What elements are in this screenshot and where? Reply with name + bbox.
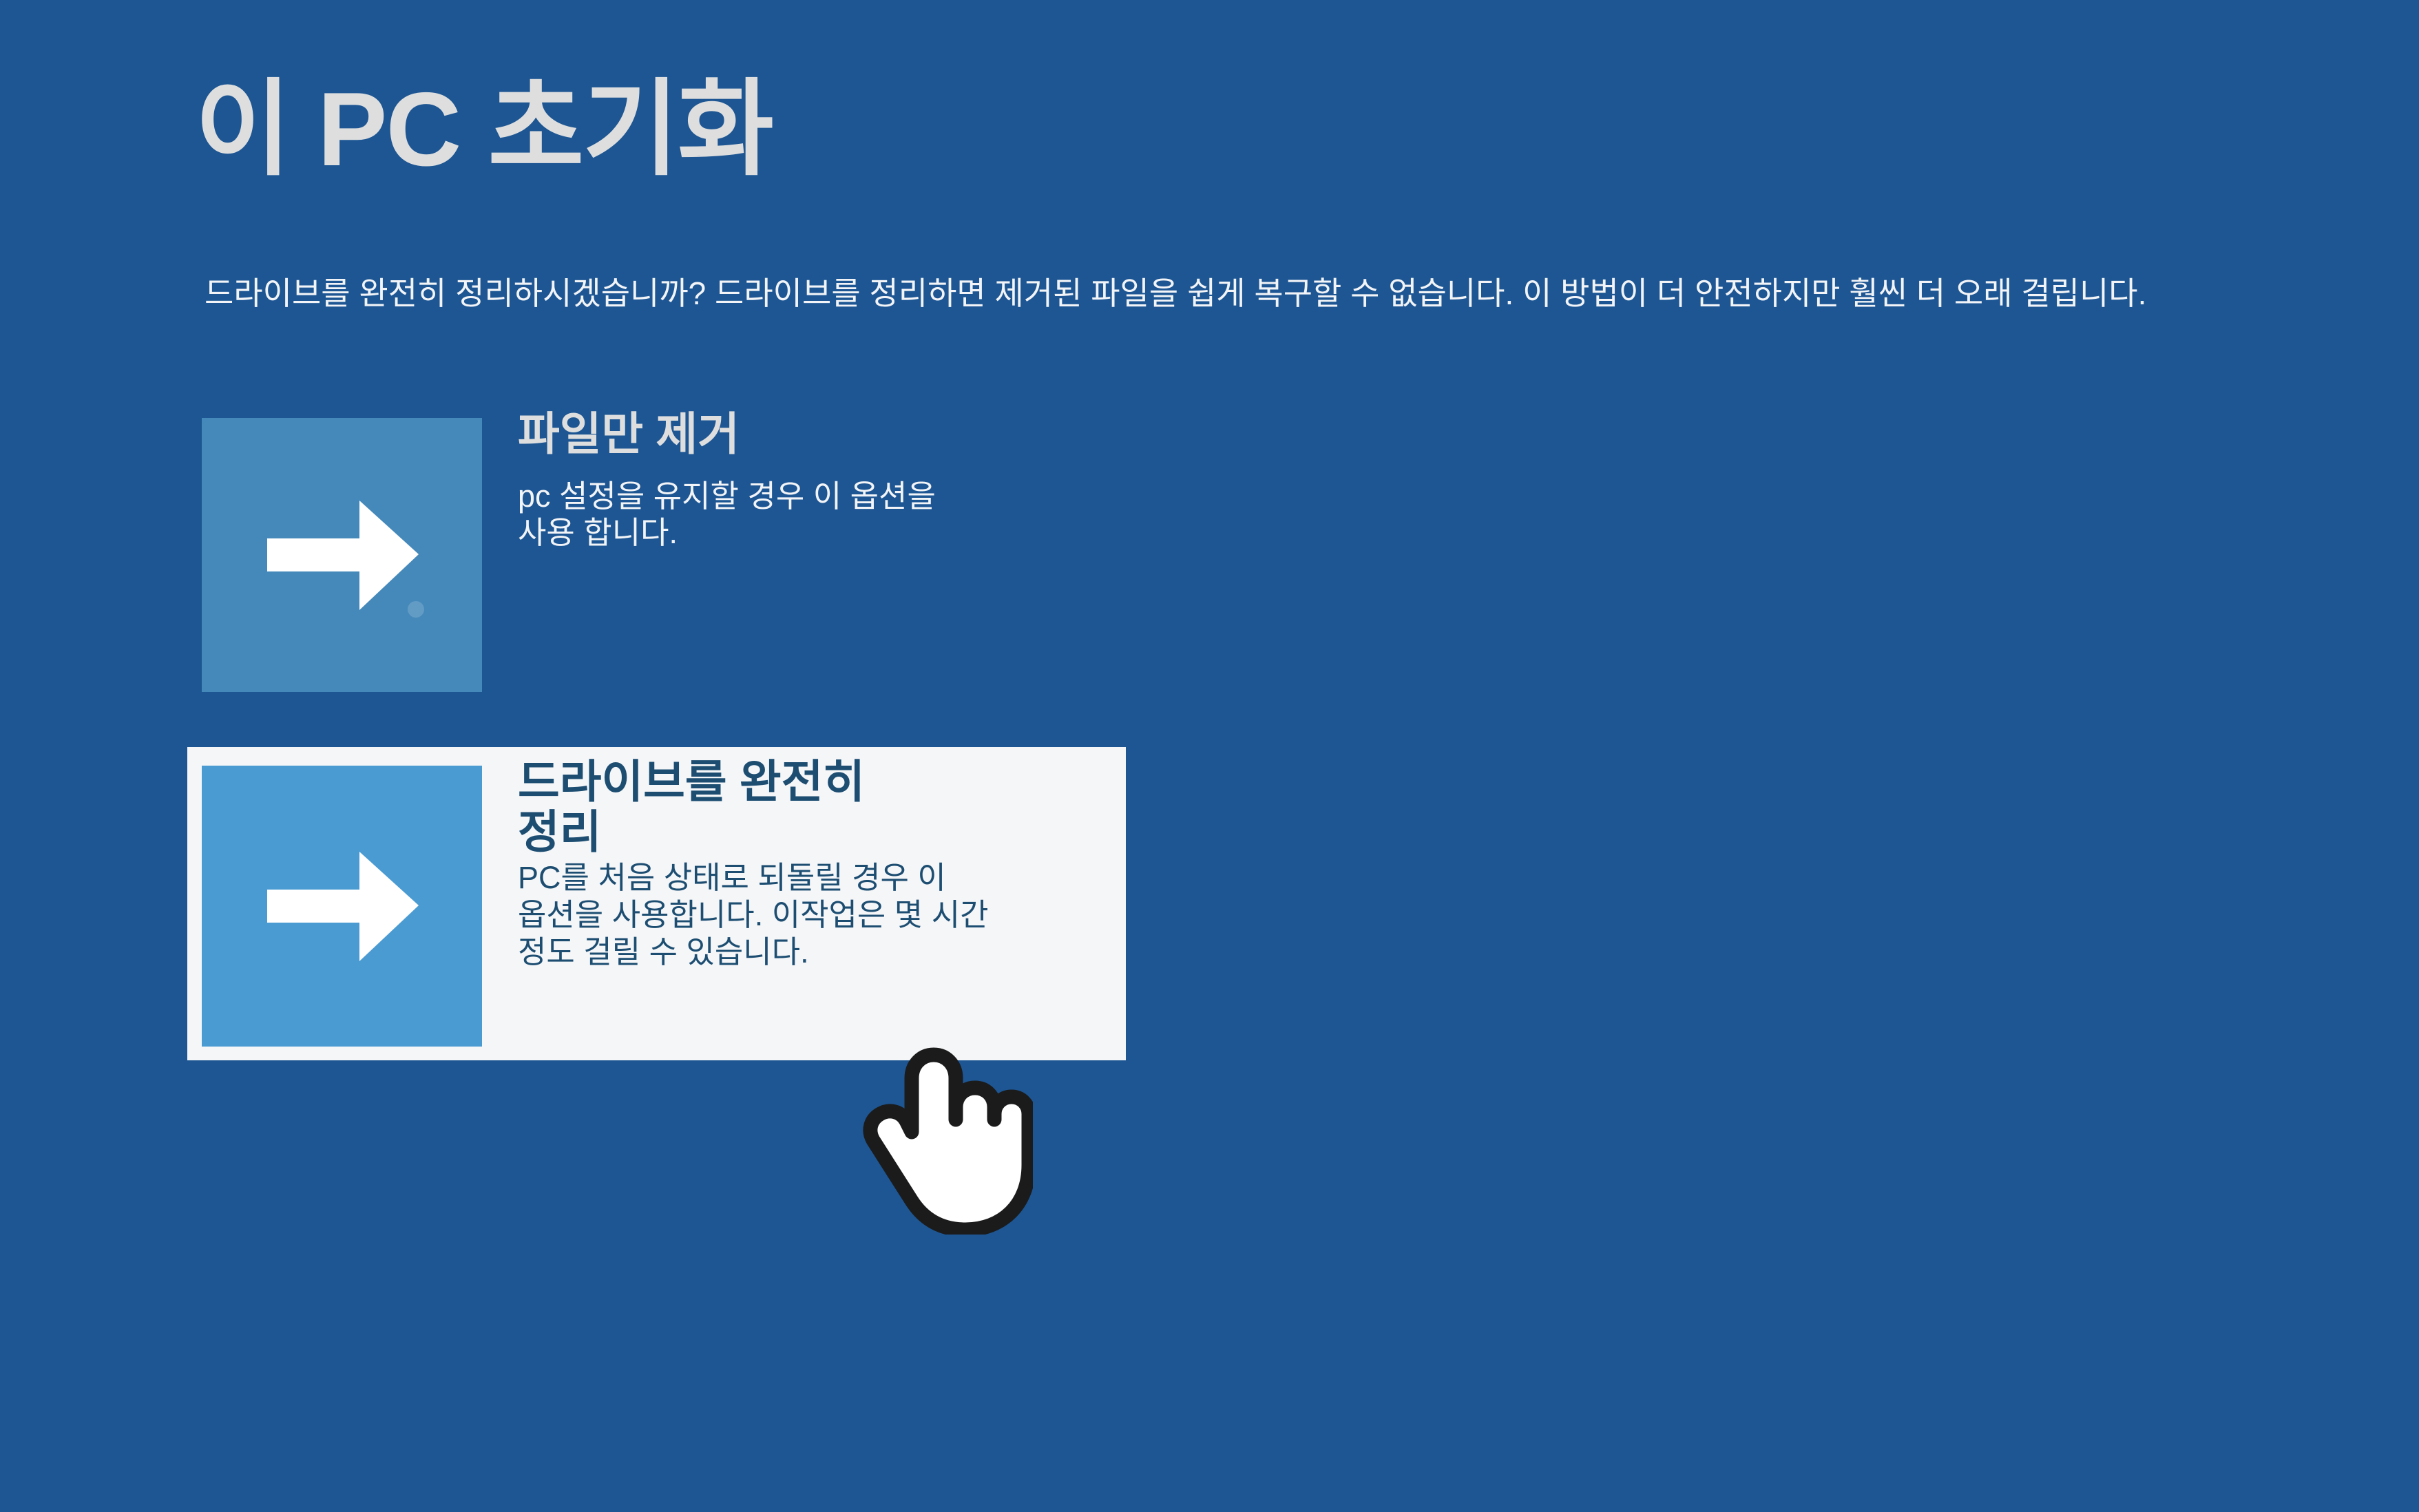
- arrow-right-icon: [256, 486, 428, 624]
- option-full-clean-heading: 드라이브를 완전히 정리: [518, 757, 1110, 857]
- tile-dot-decoration: [408, 601, 424, 618]
- option-files-only-description: pc 설정을 유지할 경우 이 옵션을 사용 합니다.: [518, 478, 1069, 551]
- page-title: 이 PC 초기화: [195, 72, 773, 187]
- option-files-only-tile[interactable]: [202, 418, 482, 692]
- option-full-clean-text: 드라이브를 완전히 정리 PC를 처음 상태로 되돌릴 경우 이 옵션을 사용합…: [518, 757, 1110, 971]
- arrow-right-icon: [256, 837, 428, 975]
- option-full-clean-description: PC를 처음 상태로 되돌릴 경우 이 옵션을 사용합니다. 이작업은 몇 시간…: [518, 859, 1110, 971]
- option-files-only-text: 파일만 제거 pc 설정을 유지할 경우 이 옵션을 사용 합니다.: [518, 409, 1069, 551]
- intro-description: 드라이브를 완전히 정리하시겠습니까? 드라이브를 정리하면 제거된 파일을 쉽…: [205, 274, 2312, 313]
- option-files-only-heading: 파일만 제거: [518, 409, 1069, 460]
- option-remove-files-only[interactable]: 파일만 제거 pc 설정을 유지할 경우 이 옵션을 사용 합니다.: [202, 418, 1049, 693]
- option-fully-clean-drive[interactable]: 드라이브를 완전히 정리 PC를 처음 상태로 되돌릴 경우 이 옵션을 사용합…: [187, 747, 1126, 1060]
- option-full-clean-tile[interactable]: [202, 766, 482, 1047]
